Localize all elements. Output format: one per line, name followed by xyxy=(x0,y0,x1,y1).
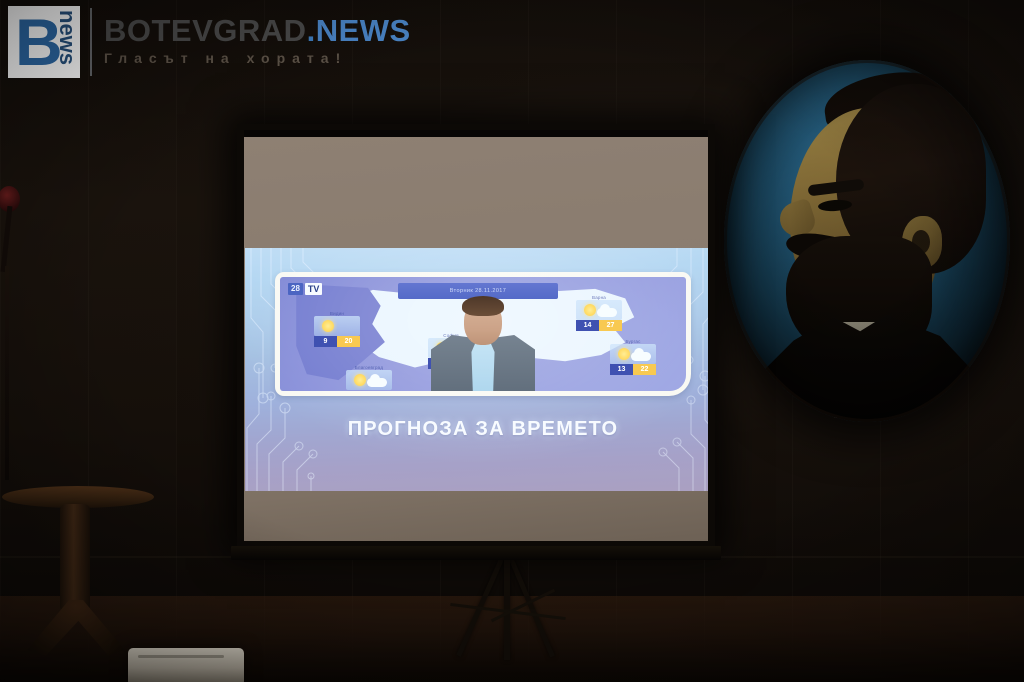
tv-logo-text: TV xyxy=(305,283,323,295)
weather-high: 22 xyxy=(633,364,656,375)
microphone-stand xyxy=(0,186,30,486)
portrait-coat xyxy=(758,310,980,422)
projected-slide: 28 TV Вторник 28.11.2017 Видин 9 xyxy=(245,248,708,491)
weather-presenter xyxy=(428,295,538,391)
table-foot xyxy=(18,600,134,658)
weather-point: Видин 9 20 xyxy=(314,311,360,347)
screen-surface: 28 TV Вторник 28.11.2017 Видин 9 xyxy=(244,130,708,541)
weather-icon-sun xyxy=(314,316,360,336)
watermark-letter-b: B xyxy=(15,7,61,77)
tripod-leg xyxy=(504,548,510,660)
weather-low: 13 xyxy=(610,364,633,375)
presenter-hair xyxy=(462,296,504,316)
watermark-text-block: BOTEVGRAD.NEWS Гласът на хората! xyxy=(104,6,411,66)
screen-assembly: 28 TV Вторник 28.11.2017 Видин 9 xyxy=(237,124,715,548)
slide-title: ПРОГНОЗА ЗА ВРЕМЕТО xyxy=(245,418,708,441)
tv-channel-logo: 28 TV xyxy=(288,283,322,295)
video-card: 28 TV Вторник 28.11.2017 Видин 9 xyxy=(275,272,691,396)
weather-point: Варна 14 27 xyxy=(576,295,622,331)
projection-screen: 28 TV Вторник 28.11.2017 Видин 9 xyxy=(237,124,715,548)
wall-portrait xyxy=(724,60,1010,422)
microphone-arm xyxy=(1,206,13,272)
weather-map: 28 TV Вторник 28.11.2017 Видин 9 xyxy=(280,277,686,391)
watermark-logo-mark: B news xyxy=(8,6,80,78)
site-watermark: B news BOTEVGRAD.NEWS Гласът на хората! xyxy=(8,6,411,78)
weather-point: Благоевград xyxy=(346,365,392,390)
projector-device xyxy=(128,648,244,682)
photo-scene: 28 TV Вторник 28.11.2017 Видин 9 xyxy=(0,0,1024,682)
weather-point: Бургас 13 22 xyxy=(610,339,656,375)
watermark-title-dot: . xyxy=(307,13,316,48)
watermark-title: BOTEVGRAD.NEWS xyxy=(104,14,411,48)
weather-low: 9 xyxy=(314,336,337,347)
weather-icon-sun-cloud xyxy=(610,344,656,364)
weather-icon-sun-cloud xyxy=(576,300,622,320)
weather-low: 14 xyxy=(576,320,599,331)
watermark-tagline: Гласът на хората! xyxy=(104,50,411,66)
pedestal-table xyxy=(2,486,154,670)
weather-temps: 13 22 xyxy=(610,364,656,375)
screen-bottom-bar xyxy=(231,546,721,560)
screen-top-rail xyxy=(244,130,708,137)
microphone-pole xyxy=(5,266,9,480)
weather-high: 27 xyxy=(599,320,622,331)
tripod-leg xyxy=(456,547,509,657)
watermark-title-suffix: NEWS xyxy=(316,13,411,48)
tv-logo-number: 28 xyxy=(288,283,303,295)
weather-temps: 14 27 xyxy=(576,320,622,331)
weather-temps: 9 20 xyxy=(314,336,360,347)
table-stem xyxy=(60,504,90,612)
weather-high: 20 xyxy=(337,336,360,347)
tripod-stand xyxy=(392,548,622,672)
date-banner-text: Вторник 28.11.2017 xyxy=(450,288,506,294)
weather-icon-sun-cloud xyxy=(346,370,392,390)
watermark-divider xyxy=(90,8,92,76)
watermark-news-vertical: news xyxy=(56,10,78,65)
watermark-title-main: BOTEVGRAD xyxy=(104,13,307,48)
